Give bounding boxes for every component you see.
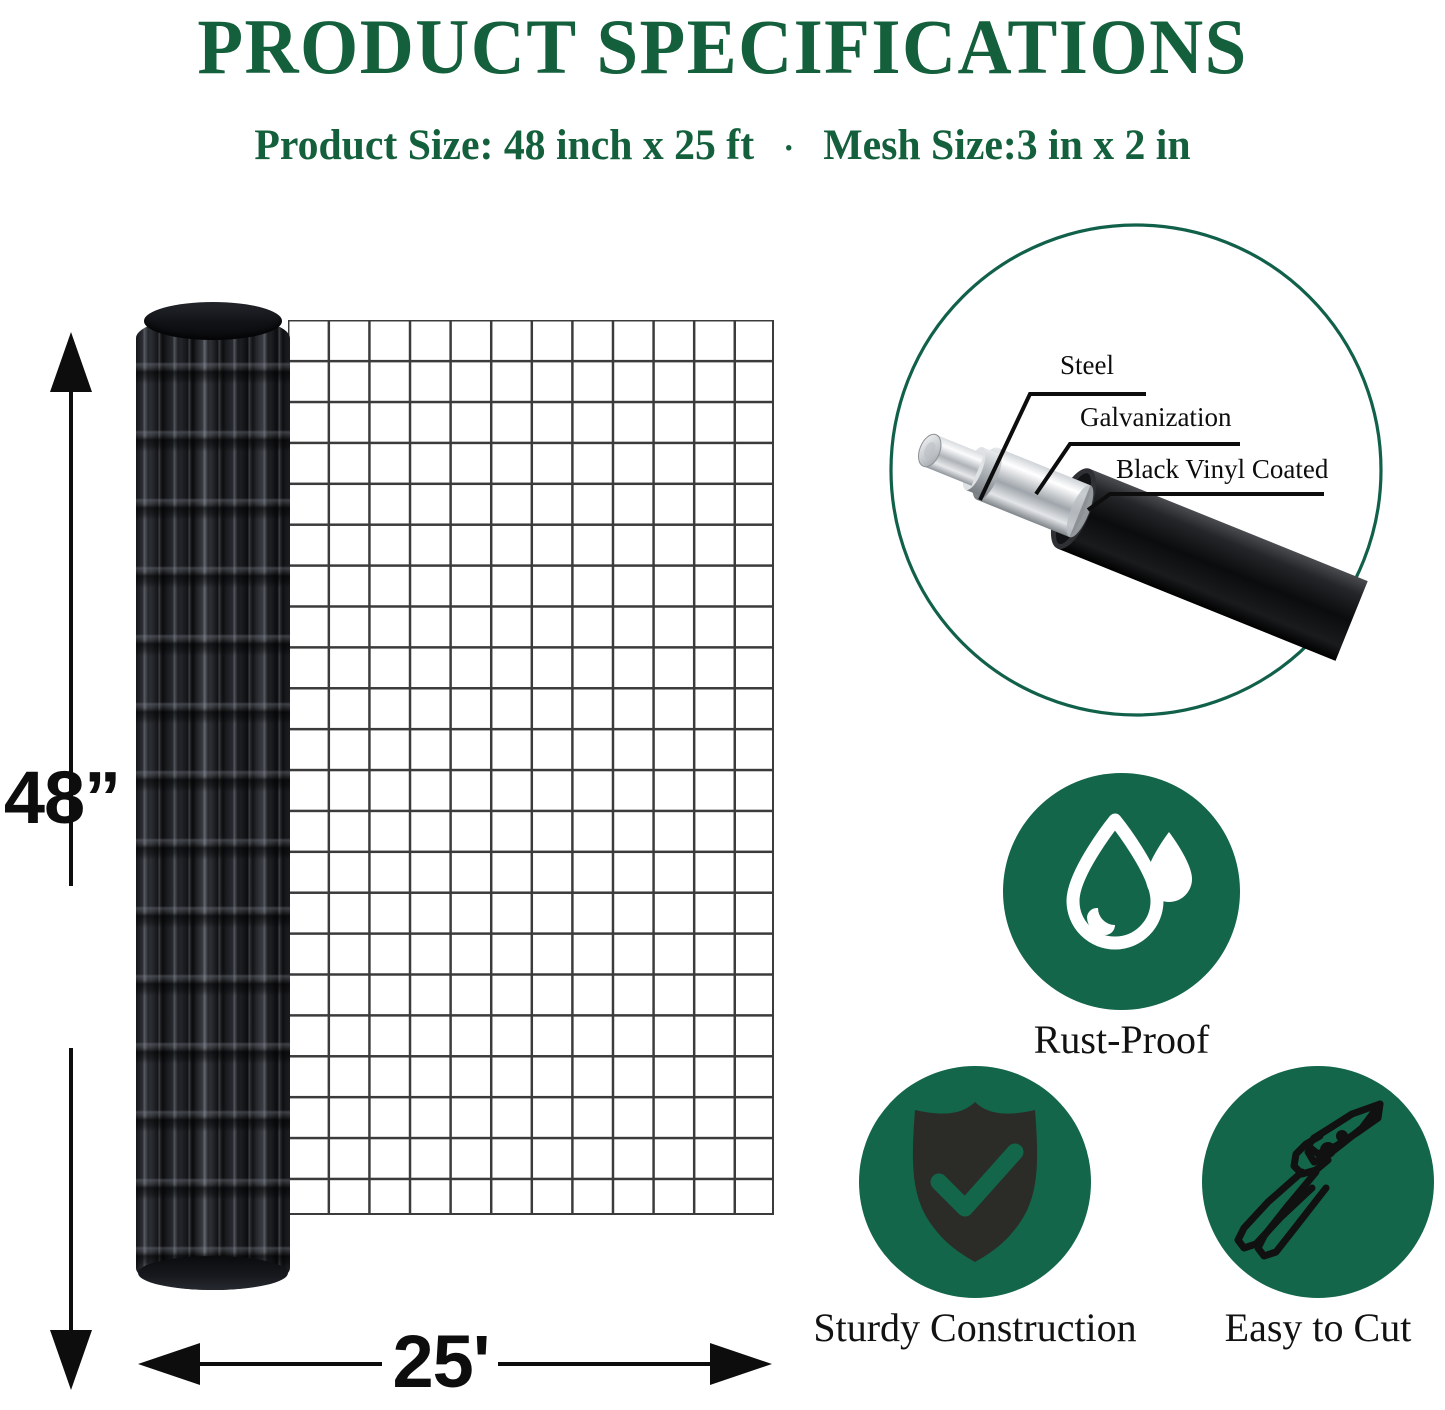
feature-easy-to-cut: Easy to Cut	[1202, 1066, 1434, 1298]
header: PRODUCT SPECIFICATIONS Product Size: 48 …	[0, 0, 1445, 190]
water-droplet-icon	[1003, 773, 1240, 1010]
wire-label-steel: Steel	[1060, 350, 1114, 380]
height-dimension-label: 48”	[0, 755, 132, 841]
subtitle-separator: ·	[754, 121, 823, 177]
arrow-down-icon	[50, 1330, 92, 1390]
easy-to-cut-badge	[1202, 1066, 1434, 1298]
width-dimension-label: 25'	[382, 1314, 500, 1410]
specs-subtitle: Product Size: 48 inch x 25 ft·Mesh Size:…	[22, 118, 1424, 177]
arrow-up-icon	[50, 332, 92, 392]
feature-rust-proof: Rust-Proof	[1003, 773, 1240, 1010]
dimension-line-left	[188, 1362, 382, 1366]
wire-label-black-vinyl-coated: Black Vinyl Coated	[1116, 454, 1328, 484]
product-illustration: 48” 25'	[0, 190, 810, 1384]
wire-mesh-sheet	[288, 320, 774, 1215]
wire-label-galvanization: Galvanization	[1080, 402, 1231, 432]
page-title: PRODUCT SPECIFICATIONS	[29, 2, 1416, 92]
fence-roll	[136, 302, 290, 1290]
rust-proof-caption: Rust-Proof	[1034, 1016, 1210, 1064]
dimension-line-lower	[69, 1048, 73, 1340]
feature-sturdy-construction: Sturdy Construction	[859, 1066, 1091, 1298]
dimension-line-right	[498, 1362, 712, 1366]
roll-bottom-cap	[138, 1256, 288, 1290]
roll-body	[136, 316, 290, 1290]
easy-to-cut-caption: Easy to Cut	[1225, 1304, 1412, 1352]
sturdy-construction-caption: Sturdy Construction	[813, 1304, 1136, 1352]
arrow-right-icon	[710, 1343, 772, 1385]
sturdy-construction-badge	[859, 1066, 1091, 1298]
mesh-size-text: Mesh Size:3 in x 2 in	[823, 122, 1190, 169]
height-dimension-arrow	[14, 330, 134, 1390]
product-size-text: Product Size: 48 inch x 25 ft	[254, 122, 754, 169]
shield-check-icon	[859, 1066, 1091, 1298]
wire-construction-callout: Steel Galvanization Black Vinyl Coated	[888, 222, 1384, 718]
pliers-icon	[1202, 1066, 1434, 1298]
rust-proof-badge	[1003, 773, 1240, 1010]
roll-coil-bands	[136, 316, 290, 1290]
roll-top-cap	[144, 302, 282, 340]
width-dimension-arrow: 25'	[136, 1330, 776, 1400]
